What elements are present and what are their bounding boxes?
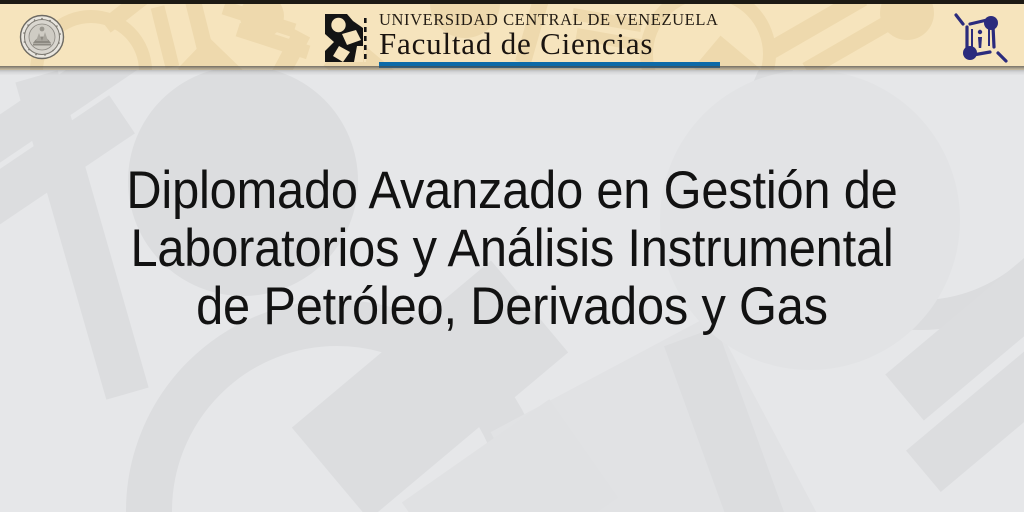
page-title: Diplomado Avanzado en Gestión de Laborat…	[98, 162, 926, 336]
title-line-1: Diplomado Avanzado en Gestión de	[98, 162, 926, 220]
header-pattern-shape	[880, 4, 934, 40]
title-line-3: de Petróleo, Derivados y Gas	[98, 278, 926, 336]
header-drop-shadow	[0, 66, 1024, 75]
presentation-slide: Diplomado Avanzado en Gestión de Laborat…	[0, 0, 1024, 512]
ucv-logo-mark	[323, 12, 369, 64]
title-block: Diplomado Avanzado en Gestión de Laborat…	[0, 0, 1024, 512]
ucv-logo-lockup: Universidad Central de Venezuela Faculta…	[323, 8, 720, 68]
molecule-info-icon[interactable]	[954, 9, 1008, 67]
info-letter	[978, 30, 982, 48]
title-line-2: Laboratorios y Análisis Instrumental	[98, 220, 926, 278]
header-pattern-shape	[151, 5, 180, 69]
ucv-wordmark: Universidad Central de Venezuela Faculta…	[379, 8, 720, 68]
university-seal	[19, 14, 65, 60]
faculty-name: Facultad de Ciencias	[379, 28, 720, 60]
header-band: Universidad Central de Venezuela Faculta…	[0, 0, 1024, 70]
